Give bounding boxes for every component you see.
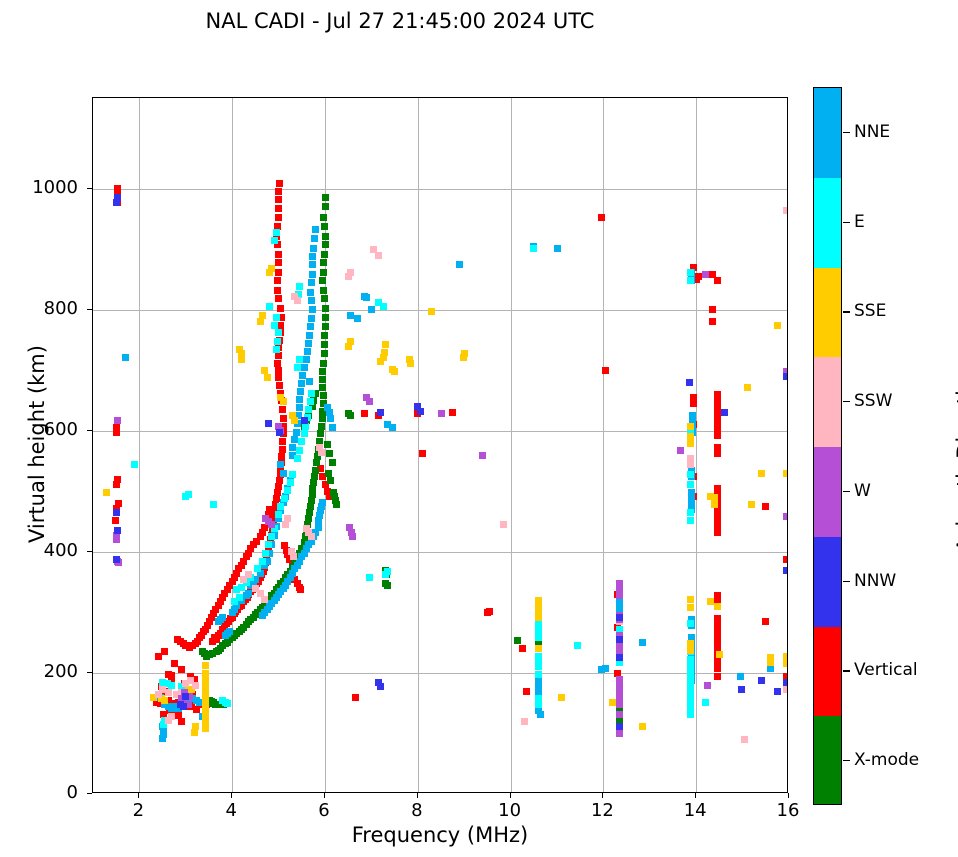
colorbar-tick: [843, 760, 850, 761]
data-point: [695, 273, 702, 280]
data-point: [259, 612, 266, 619]
data-point: [265, 420, 272, 427]
data-point: [333, 501, 340, 508]
data-point: [275, 188, 282, 195]
data-point: [279, 406, 286, 413]
data-point: [191, 729, 198, 736]
data-point: [231, 598, 238, 605]
data-point: [284, 487, 291, 494]
data-point: [298, 438, 305, 445]
data-point: [168, 672, 175, 679]
data-point: [762, 618, 769, 625]
data-point: [349, 533, 356, 540]
data-point: [310, 245, 317, 252]
data-point: [113, 556, 120, 563]
data-point: [320, 287, 327, 294]
colorbar-tick: [843, 401, 850, 402]
data-point: [361, 410, 368, 417]
data-point: [677, 447, 684, 454]
data-point: [275, 374, 282, 381]
data-point: [275, 483, 282, 490]
data-point: [320, 392, 327, 399]
data-point: [199, 648, 206, 655]
data-point: [382, 341, 389, 348]
data-point: [122, 354, 129, 361]
data-point: [714, 665, 721, 672]
data-point: [523, 688, 530, 695]
colorbar-label-e: E: [854, 212, 865, 232]
data-point: [319, 384, 326, 391]
data-point: [161, 648, 168, 655]
data-point: [707, 598, 714, 605]
data-point: [275, 214, 282, 221]
data-point: [320, 214, 327, 221]
data-point: [384, 582, 391, 589]
data-point: [554, 245, 561, 252]
x-tick-label: 14: [665, 800, 725, 821]
colorbar-segment: [814, 447, 841, 537]
data-point: [317, 430, 324, 437]
data-point: [535, 671, 542, 678]
data-point: [783, 653, 788, 660]
data-point: [224, 639, 231, 646]
data-point: [294, 455, 301, 462]
data-point: [535, 701, 542, 708]
data-point: [438, 410, 445, 417]
data-point: [311, 473, 318, 480]
data-point: [687, 269, 694, 276]
data-point: [182, 693, 189, 700]
data-point: [714, 277, 721, 284]
data-point: [290, 553, 297, 560]
data-point: [347, 412, 354, 419]
data-point: [748, 501, 755, 508]
y-tick: [87, 793, 92, 794]
data-point: [308, 279, 315, 286]
data-point: [321, 332, 328, 339]
data-point: [224, 700, 231, 707]
data-point: [308, 533, 315, 540]
data-point: [327, 477, 334, 484]
data-point: [280, 470, 287, 477]
ionogram-figure: NAL CADI - Jul 27 21:45:00 2024 UTC 2468…: [0, 0, 958, 857]
data-point: [687, 481, 694, 488]
data-point: [291, 436, 298, 443]
data-point: [309, 261, 316, 268]
data-point: [428, 308, 435, 315]
y-axis-title: Virtual height (km): [25, 96, 49, 792]
data-point: [716, 651, 723, 658]
data-point: [308, 315, 315, 322]
data-point: [783, 207, 788, 214]
data-point: [296, 396, 303, 403]
data-point: [301, 430, 308, 437]
data-point: [322, 323, 329, 330]
data-point: [261, 596, 268, 603]
data-point: [273, 346, 280, 353]
data-point: [274, 360, 281, 367]
data-point: [320, 360, 327, 367]
data-point: [309, 306, 316, 313]
data-point: [289, 444, 296, 451]
data-point: [391, 368, 398, 375]
colorbar-tick: [843, 132, 850, 133]
data-point: [687, 277, 694, 284]
data-point: [738, 686, 745, 693]
data-point: [312, 467, 319, 474]
data-point: [275, 205, 282, 212]
colorbar-tick: [843, 491, 850, 492]
colorbar-tick: [843, 670, 850, 671]
data-point: [293, 429, 300, 436]
data-point: [322, 241, 329, 248]
data-point: [324, 404, 331, 411]
data-point: [322, 233, 329, 240]
data-point: [687, 440, 694, 447]
data-point: [210, 501, 217, 508]
data-point: [268, 265, 275, 272]
data-point: [783, 556, 788, 563]
data-point: [602, 367, 609, 374]
data-point: [275, 295, 282, 302]
data-point: [284, 515, 291, 522]
data-point: [254, 565, 261, 572]
data-point: [329, 424, 336, 431]
data-point: [319, 277, 326, 284]
data-point: [245, 571, 252, 578]
x-tick: [417, 793, 418, 798]
data-point: [687, 517, 694, 524]
data-point: [294, 364, 301, 371]
data-point: [210, 699, 217, 706]
data-point: [709, 318, 716, 325]
colorbar-segment: [814, 357, 841, 447]
data-point: [687, 596, 694, 603]
data-point: [178, 718, 185, 725]
y-tick: [87, 188, 92, 189]
plot-area: [92, 97, 788, 793]
x-tick: [602, 793, 603, 798]
data-point: [616, 636, 623, 643]
data-point: [319, 368, 326, 375]
data-point: [602, 665, 609, 672]
data-point: [419, 450, 426, 457]
data-point: [306, 378, 313, 385]
data-point: [321, 223, 328, 230]
data-point: [687, 471, 694, 478]
data-point: [238, 356, 245, 363]
data-point: [616, 647, 623, 654]
data-point: [276, 429, 283, 436]
data-point: [275, 352, 282, 359]
data-point: [687, 647, 694, 654]
data-point: [296, 447, 303, 454]
data-point: [783, 660, 788, 667]
data-point: [352, 694, 359, 701]
data-point: [266, 506, 273, 513]
data-point: [280, 398, 287, 405]
data-point: [721, 409, 728, 416]
data-point: [306, 509, 313, 516]
data-point: [309, 491, 316, 498]
data-point: [687, 620, 694, 627]
colorbar-tick: [843, 311, 850, 312]
data-point: [460, 354, 467, 361]
data-point: [303, 356, 310, 363]
data-point: [574, 642, 581, 649]
data-point: [113, 481, 120, 488]
data-point: [275, 259, 282, 266]
data-point: [268, 533, 275, 540]
data-point: [178, 666, 185, 673]
x-tick: [324, 793, 325, 798]
data-point: [479, 452, 486, 459]
data-point: [287, 479, 294, 486]
data-point: [558, 694, 565, 701]
data-point: [319, 499, 326, 506]
data-point: [783, 567, 788, 574]
data-point: [714, 450, 721, 457]
data-point: [347, 269, 354, 276]
data-point: [291, 417, 298, 424]
data-point: [687, 509, 694, 516]
data-point: [274, 277, 281, 284]
data-point: [282, 521, 289, 528]
data-point: [114, 417, 121, 424]
data-point: [714, 621, 721, 628]
data-point: [327, 415, 334, 422]
data-point: [265, 541, 272, 548]
data-point: [521, 718, 528, 725]
data-point: [273, 229, 280, 236]
x-tick-label: 4: [201, 800, 261, 821]
data-point: [767, 659, 774, 666]
data-point: [702, 699, 709, 706]
data-point: [347, 312, 354, 319]
colorbar-tick: [843, 222, 850, 223]
data-point: [741, 736, 748, 743]
data-point: [500, 521, 507, 528]
data-point: [714, 603, 721, 610]
data-point: [377, 409, 384, 416]
data-point: [113, 536, 120, 543]
data-point: [273, 314, 280, 321]
data-point: [279, 438, 286, 445]
data-point: [309, 253, 316, 260]
data-point: [276, 180, 283, 187]
data-point: [783, 679, 788, 686]
data-point: [709, 306, 716, 313]
data-point: [535, 634, 542, 641]
data-point: [264, 374, 271, 381]
data-point: [114, 527, 121, 534]
data-point: [281, 542, 288, 549]
data-point: [347, 338, 354, 345]
data-point: [296, 283, 303, 290]
x-tick: [695, 793, 696, 798]
data-point: [714, 529, 721, 536]
data-point: [686, 379, 693, 386]
data-point: [271, 322, 278, 329]
data-point: [165, 717, 172, 724]
data-point: [275, 196, 282, 203]
colorbar-label-nnw: NNW: [854, 571, 896, 591]
x-tick-label: 10: [480, 800, 540, 821]
data-point: [276, 477, 283, 484]
data-point: [161, 697, 168, 704]
data-point: [275, 329, 282, 336]
data-point: [417, 408, 424, 415]
colorbar-label-ssw: SSW: [854, 391, 892, 411]
data-point: [311, 235, 318, 242]
data-point: [219, 614, 226, 621]
data-point: [380, 303, 387, 310]
data-point: [202, 725, 209, 732]
data-point: [296, 356, 303, 363]
x-tick: [510, 793, 511, 798]
data-point: [616, 614, 623, 621]
colorbar-label-vertical: Vertical: [854, 660, 918, 680]
data-point: [281, 495, 288, 502]
data-point: [294, 297, 301, 304]
data-point: [714, 511, 721, 518]
data-point: [319, 415, 326, 422]
data-point: [113, 429, 120, 436]
data-point: [366, 574, 373, 581]
scatter-data-layer: [93, 98, 787, 792]
data-point: [535, 663, 542, 670]
data-point: [368, 306, 375, 313]
data-point: [325, 470, 332, 477]
data-point: [783, 373, 788, 380]
data-point: [774, 322, 781, 329]
data-point: [319, 376, 326, 383]
data-point: [711, 494, 718, 501]
data-point: [322, 305, 329, 312]
data-point: [245, 590, 252, 597]
data-point: [312, 226, 319, 233]
data-point: [304, 348, 311, 355]
colorbar-segment: [814, 268, 841, 358]
y-tick: [87, 309, 92, 310]
x-tick-label: 16: [758, 800, 818, 821]
data-point: [262, 550, 269, 557]
data-point: [714, 673, 721, 680]
data-point: [774, 688, 781, 695]
data-point: [298, 380, 305, 387]
data-point: [301, 417, 308, 424]
data-point: [320, 259, 327, 266]
data-point: [366, 398, 373, 405]
data-point: [616, 723, 623, 730]
colorbar-label-w: W: [854, 481, 871, 501]
data-point: [301, 364, 308, 371]
data-point: [185, 491, 192, 498]
data-point: [320, 269, 327, 276]
data-point: [321, 251, 328, 258]
data-point: [289, 471, 296, 478]
data-point: [519, 645, 526, 652]
data-point: [274, 338, 281, 345]
data-point: [226, 628, 233, 635]
data-point: [180, 703, 187, 710]
data-point: [714, 432, 721, 439]
data-point: [449, 409, 456, 416]
x-tick-label: 2: [108, 800, 168, 821]
data-point: [259, 312, 266, 319]
colorbar-tick: [843, 581, 850, 582]
data-point: [309, 485, 316, 492]
data-point: [275, 269, 282, 276]
data-point: [171, 660, 178, 667]
data-point: [305, 340, 312, 347]
data-point: [259, 558, 266, 565]
y-tick: [87, 430, 92, 431]
data-point: [165, 689, 172, 696]
data-point: [297, 388, 304, 395]
data-point: [616, 711, 623, 718]
y-tick: [87, 551, 92, 552]
azimuth-colorbar: [813, 87, 842, 805]
colorbar-title: Azimuth Direction: [953, 99, 958, 817]
data-point: [174, 636, 181, 643]
colorbar-segment: [814, 537, 841, 627]
data-point: [702, 271, 709, 278]
x-axis-title: Frequency (MHz): [92, 823, 788, 847]
data-point: [744, 384, 751, 391]
data-point: [535, 614, 542, 621]
data-point: [307, 289, 314, 296]
data-point: [306, 332, 313, 339]
data-point: [307, 323, 314, 330]
data-point: [192, 682, 199, 689]
data-point: [113, 199, 120, 206]
data-point: [103, 489, 110, 496]
data-point: [277, 461, 284, 468]
colorbar-segment: [814, 716, 841, 805]
data-point: [384, 568, 391, 575]
data-point: [322, 203, 329, 210]
x-tick-label: 8: [387, 800, 447, 821]
data-point: [354, 315, 361, 322]
data-point: [514, 637, 521, 644]
data-point: [257, 318, 264, 325]
data-point: [275, 367, 282, 374]
data-point: [687, 423, 694, 430]
data-point: [274, 287, 281, 294]
data-point: [616, 592, 623, 599]
data-point: [530, 245, 537, 252]
data-point: [268, 521, 275, 528]
data-point: [310, 479, 317, 486]
data-point: [112, 517, 119, 524]
data-point: [375, 252, 382, 259]
data-point: [324, 441, 331, 448]
data-point: [687, 711, 694, 718]
x-tick: [788, 793, 789, 798]
data-point: [758, 677, 765, 684]
data-point: [296, 404, 303, 411]
data-point: [308, 497, 315, 504]
colorbar-segment: [814, 88, 841, 178]
data-point: [277, 503, 284, 510]
data-point: [307, 398, 314, 405]
data-point: [309, 271, 316, 278]
colorbar-label-sse: SSE: [854, 301, 886, 321]
x-tick-label: 12: [572, 800, 632, 821]
data-point: [277, 305, 284, 312]
data-point: [737, 673, 744, 680]
